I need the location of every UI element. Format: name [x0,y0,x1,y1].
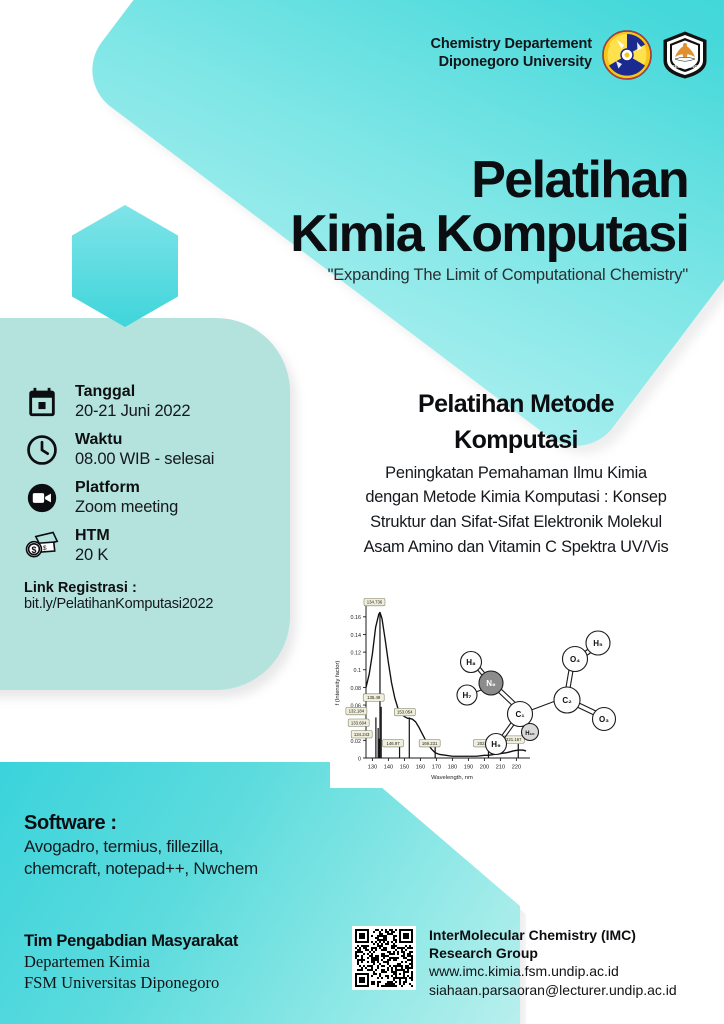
video-camera-icon [22,478,62,518]
contact-block: InterMolecular Chemistry (IMC) Research … [352,926,677,999]
software-line-2: chemcraft, notepad++, Nwchem [24,858,354,880]
description-block: Pelatihan Metode Komputasi Peningkatan P… [322,386,710,560]
himpunan-mahasiswa-kimia-logo [602,30,652,85]
research-group-line-2: Research Group [429,944,677,962]
svg-text:H₉: H₉ [491,740,501,749]
svg-text:C₁: C₁ [515,710,525,719]
svg-text:0.02: 0.02 [351,739,362,745]
organizer-title: Tim Pengabdian Masyarakat [24,932,344,951]
svg-text:134.736: 134.736 [367,600,383,605]
info-value-platform: Zoom meeting [75,497,178,518]
info-value-waktu: 08.00 WIB - selesai [75,449,214,470]
svg-text:130: 130 [368,765,377,771]
svg-text:146.97: 146.97 [386,741,400,746]
description-body-line-1: Peningkatan Pemahaman Ilmu Kimia [322,461,710,486]
svg-text:0.12: 0.12 [351,651,362,657]
info-text-tanggal: Tanggal 20-21 Juni 2022 [75,382,190,422]
software-list: Avogadro, termius, fillezilla, chemcraft… [24,836,354,881]
info-label-platform: Platform [75,478,178,497]
title-tagline: "Expanding The Limit of Computational Ch… [0,266,688,285]
description-heading-line-1: Pelatihan Metode [322,386,710,422]
info-value-tanggal: 20-21 Juni 2022 [75,401,190,422]
title-line-1: Pelatihan [0,154,688,208]
poster-title: Pelatihan Kimia Komputasi "Expanding The… [0,154,724,285]
description-body: Peningkatan Pemahaman Ilmu Kimia dengan … [322,461,710,561]
software-block: Software : Avogadro, termius, fillezilla… [24,812,354,881]
clock-icon [22,430,62,470]
svg-text:0.14: 0.14 [351,633,362,639]
svg-text:N₆: N₆ [486,679,496,688]
poster-canvas: Chemistry Departement Diponegoro Univers… [0,0,724,1024]
info-row-waktu: Waktu 08.00 WIB - selesai [22,430,284,470]
organizer-faculty: FSM Universitas Diponegoro [24,972,344,993]
svg-text:221.167: 221.167 [506,737,522,742]
header-line-1: Chemistry Departement [431,35,592,53]
svg-text:O₃: O₃ [599,715,609,724]
description-heading-line-2: Komputasi [322,422,710,458]
event-info-panel: Tanggal 20-21 Juni 2022 Waktu 08.00 WIB … [22,382,284,612]
svg-text:134.243: 134.243 [354,732,370,737]
info-row-htm: $ $ HTM 20 K [22,526,284,566]
svg-text:0: 0 [358,756,361,762]
description-body-line-4: Asam Amino dan Vitamin C Spektra UV/Vis [322,535,710,560]
registration-link[interactable]: bit.ly/PelatihanKomputasi2022 [24,596,284,612]
svg-text:H₅: H₅ [593,639,603,648]
header-institution: Chemistry Departement Diponegoro Univers… [431,30,592,72]
svg-text:210: 210 [496,765,505,771]
contact-email[interactable]: siahaan.parsaoran@lecturer.undip.ac.id [429,981,677,999]
poster-header: Chemistry Departement Diponegoro Univers… [0,30,724,85]
info-row-tanggal: Tanggal 20-21 Juni 2022 [22,382,284,422]
organizer-department: Departemen Kimia [24,951,344,972]
svg-text:135.49: 135.49 [367,695,381,700]
svg-text:0.08: 0.08 [351,686,362,692]
info-value-htm: 20 K [75,545,110,566]
info-row-platform: Platform Zoom meeting [22,478,284,518]
svg-text:C₂: C₂ [562,696,572,705]
svg-text:H₇: H₇ [463,691,472,700]
organizer-block: Tim Pengabdian Masyarakat Departemen Kim… [24,932,344,994]
svg-text:H₈: H₈ [466,658,476,667]
info-label-waktu: Waktu [75,430,214,449]
title-line-2: Kimia Komputasi [0,208,688,262]
registration-label: Link Registrasi : [24,580,284,596]
uvvis-spectrum-figure: 00.020.040.060.080.10.120.140.1613014015… [330,592,696,788]
logo-group: SEMARANG [602,30,710,85]
money-icon: $ $ [22,526,62,566]
svg-text:220: 220 [512,765,521,771]
svg-text:200: 200 [480,765,489,771]
header-line-2: Diponegoro University [431,53,592,71]
svg-text:150: 150 [400,765,409,771]
software-title: Software : [24,812,354,835]
svg-text:170: 170 [432,765,441,771]
svg-text:132.184: 132.184 [349,709,365,714]
qr-code[interactable] [352,926,416,990]
universitas-diponegoro-logo: SEMARANG [660,30,710,85]
svg-text:$: $ [43,545,47,552]
svg-text:160: 160 [416,765,425,771]
software-line-1: Avogadro, termius, fillezilla, [24,836,354,858]
svg-text:$: $ [32,545,37,555]
description-body-line-2: dengan Metode Kimia Komputasi : Konsep [322,485,710,510]
svg-text:H₁₀: H₁₀ [525,731,535,737]
svg-text:0.1: 0.1 [354,668,362,674]
registration-block: Link Registrasi : bit.ly/PelatihanKomput… [24,580,284,612]
svg-text:Wavelength, nm: Wavelength, nm [431,775,473,781]
svg-text:O₄: O₄ [570,655,580,664]
info-text-htm: HTM 20 K [75,526,110,566]
svg-text:180: 180 [448,765,457,771]
svg-text:169.231: 169.231 [422,741,438,746]
contact-website[interactable]: www.imc.kimia.fsm.undip.ac.id [429,962,677,980]
svg-text:0.16: 0.16 [351,615,362,621]
info-label-tanggal: Tanggal [75,382,190,401]
info-text-waktu: Waktu 08.00 WIB - selesai [75,430,214,470]
svg-text:133.604: 133.604 [351,720,367,725]
svg-text:153.054: 153.054 [397,710,413,715]
svg-text:140: 140 [384,765,393,771]
info-label-htm: HTM [75,526,110,545]
contact-details: InterMolecular Chemistry (IMC) Research … [429,926,677,999]
info-text-platform: Platform Zoom meeting [75,478,178,518]
research-group-line-1: InterMolecular Chemistry (IMC) [429,926,677,944]
svg-text:f (Intensity factor): f (Intensity factor) [335,661,341,706]
svg-text:190: 190 [464,765,473,771]
svg-text:SEMARANG: SEMARANG [672,64,699,69]
calendar-icon [22,382,62,422]
description-body-line-3: Struktur dan Sifat-Sifat Elektronik Mole… [322,510,710,535]
